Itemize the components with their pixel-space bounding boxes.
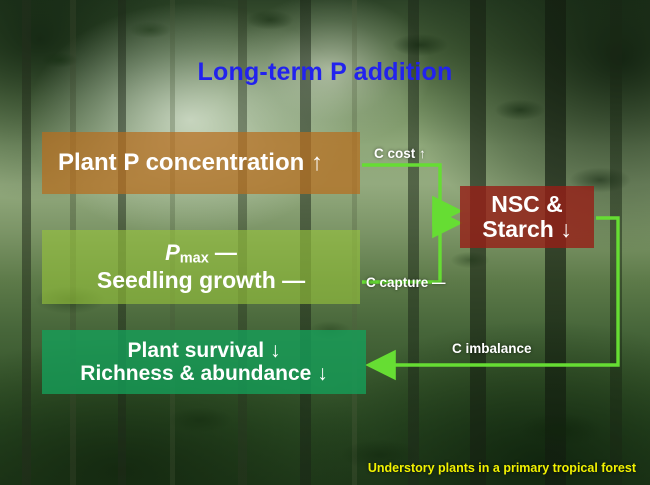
pmax-trend: — [209,240,237,265]
slide-canvas: Long-term P addition Plant P concentrati… [0,0,650,485]
box-plant-survival-label: Plant survival ↓ [128,339,281,362]
box-seedling-growth-label: Seedling growth — [97,268,305,293]
box-seedling-growth: Pmax — Seedling growth — [42,230,360,304]
footer-caption: Understory plants in a primary tropical … [368,461,636,475]
box-richness-abundance-label: Richness & abundance ↓ [80,362,327,385]
box-plant-p-concentration: Plant P concentration ↑ [42,132,360,194]
box-plant-survival: Plant survival ↓ Richness & abundance ↓ [42,330,366,394]
pmax-subscript: max [180,251,209,267]
box-seedling-pmax-line: Pmax — [165,241,237,268]
box-starch-label: Starch ↓ [482,217,571,242]
edge-label-c-imbalance: C imbalance [452,341,532,356]
box-nsc-label: NSC & [491,192,563,217]
edge-label-c-cost: C cost ↑ [374,146,426,161]
page-title: Long-term P addition [0,58,650,87]
arrow-c-cost [362,165,456,211]
arrow-c-capture [362,223,456,282]
edge-label-c-capture: C capture — [366,275,446,290]
box-nsc-starch: NSC & Starch ↓ [460,186,594,248]
box-plant-p-concentration-label: Plant P concentration ↑ [58,150,323,176]
pmax-symbol: P [165,240,180,265]
